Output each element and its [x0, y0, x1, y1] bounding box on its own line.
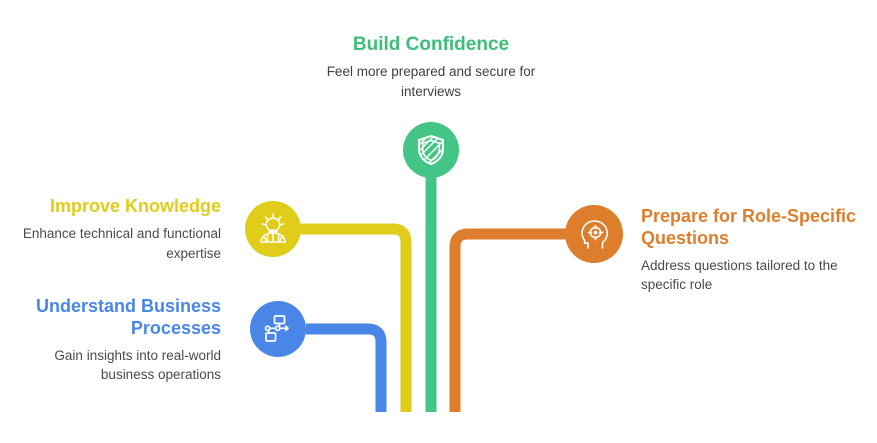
connector-rolespec — [455, 234, 568, 412]
infographic-canvas: Build Confidence Feel more prepared and … — [0, 0, 877, 443]
text-block-prepare-role-specific-questions: Prepare for Role-Specific Questions Addr… — [641, 206, 869, 295]
head-target-icon — [578, 218, 610, 250]
title-understand-business-processes: Understand Business Processes — [0, 296, 221, 340]
connector-processes — [306, 329, 381, 412]
node-understand-business-processes[interactable] — [250, 301, 306, 357]
title-build-confidence: Build Confidence — [300, 33, 562, 56]
description-prepare-role-specific-questions: Address questions tailored to the specif… — [641, 256, 869, 295]
node-improve-knowledge[interactable] — [245, 201, 301, 257]
flowchart-icon — [263, 314, 293, 344]
node-prepare-role-specific-questions[interactable] — [565, 205, 623, 263]
description-build-confidence: Feel more prepared and secure for interv… — [300, 62, 562, 101]
node-build-confidence[interactable] — [403, 122, 459, 178]
title-prepare-role-specific-questions: Prepare for Role-Specific Questions — [641, 206, 869, 250]
text-block-improve-knowledge: Improve Knowledge Enhance technical and … — [0, 196, 221, 263]
description-improve-knowledge: Enhance technical and functional experti… — [0, 224, 221, 263]
lightbulb-idea-icon — [257, 213, 289, 245]
shield-icon — [416, 134, 446, 166]
connector-knowledge — [300, 229, 406, 412]
title-improve-knowledge: Improve Knowledge — [0, 196, 221, 218]
text-block-build-confidence: Build Confidence Feel more prepared and … — [300, 33, 562, 101]
text-block-understand-business-processes: Understand Business Processes Gain insig… — [0, 296, 221, 385]
description-understand-business-processes: Gain insights into real-world business o… — [0, 346, 221, 385]
